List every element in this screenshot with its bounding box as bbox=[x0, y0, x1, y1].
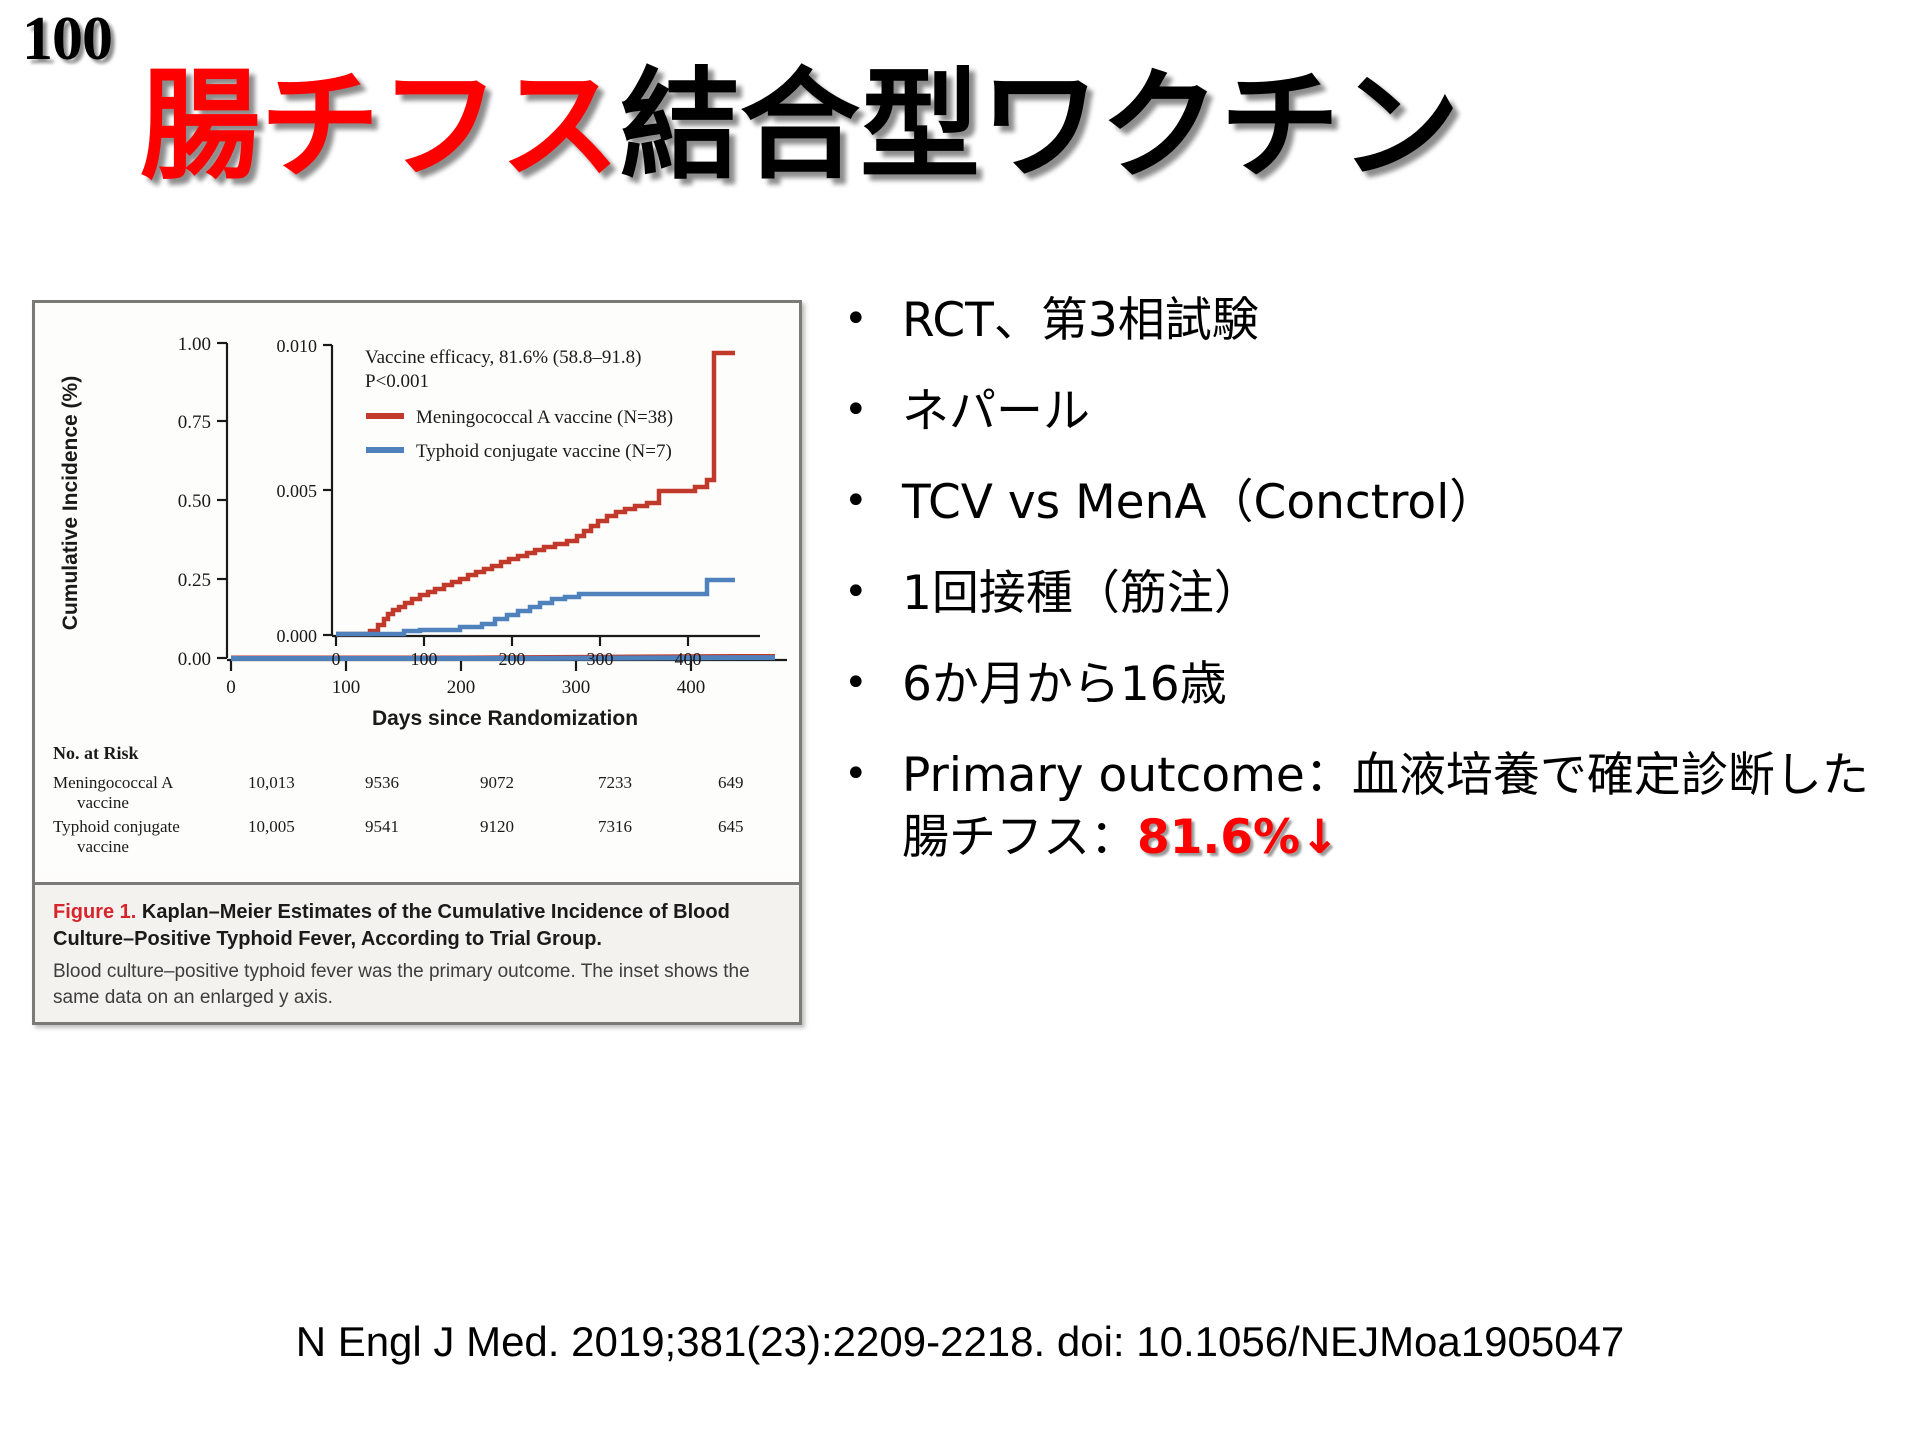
svg-text:300: 300 bbox=[587, 649, 614, 669]
svg-text:0: 0 bbox=[332, 649, 341, 669]
svg-text:0.25: 0.25 bbox=[178, 570, 211, 591]
risk-value: 9536 bbox=[365, 773, 399, 793]
pvalue-annotation: P<0.001 bbox=[365, 371, 429, 392]
svg-text:200: 200 bbox=[447, 677, 476, 698]
svg-text:400: 400 bbox=[677, 677, 706, 698]
risk-value: 10,013 bbox=[248, 773, 295, 793]
bullet-marker-icon: • bbox=[836, 745, 902, 803]
svg-text:0.00: 0.00 bbox=[178, 649, 211, 670]
risk-value: 9120 bbox=[480, 817, 514, 837]
title-black-part: 結合型ワクチン bbox=[620, 57, 1460, 196]
efficacy-highlight: 81.6%↓ bbox=[1137, 810, 1339, 865]
list-item-label: Primary outcome：血液培養で確定診断した腸チフス：81.6%↓ bbox=[902, 745, 1896, 867]
citation-text: N Engl J Med. 2019;381(23):2209-2218. do… bbox=[0, 1318, 1920, 1366]
list-item: • ネパール bbox=[836, 381, 1896, 442]
risk-row-label-line1: Typhoid conjugate bbox=[53, 817, 180, 836]
svg-text:300: 300 bbox=[562, 677, 591, 698]
risk-value: 645 bbox=[718, 817, 744, 837]
risk-row-label-line1: Meningococcal A bbox=[53, 773, 173, 792]
risk-value: 9541 bbox=[365, 817, 399, 837]
bullet-list: • RCT、第3相試験 • ネパール • TCV vs MenA（Conctro… bbox=[836, 290, 1896, 868]
svg-text:Cumulative Incidence (%): Cumulative Incidence (%) bbox=[59, 376, 82, 630]
list-item: • RCT、第3相試験 bbox=[836, 290, 1896, 351]
risk-row-label-line2: vaccine bbox=[53, 837, 223, 857]
risk-row-label-line2: vaccine bbox=[53, 793, 223, 813]
vaccine-efficacy-annotation: Vaccine efficacy, 81.6% (58.8–91.8) bbox=[365, 347, 641, 368]
list-item: • 1回接種（筋注） bbox=[836, 563, 1896, 624]
figure-label: Figure 1. bbox=[53, 901, 136, 923]
list-item: • TCV vs MenA（Conctrol） bbox=[836, 472, 1896, 533]
title-red-part: 腸チフス bbox=[140, 57, 620, 196]
svg-text:400: 400 bbox=[675, 649, 702, 669]
slide-number: 100 bbox=[22, 8, 112, 70]
svg-text:0: 0 bbox=[226, 677, 236, 698]
list-item-label: 1回接種（筋注） bbox=[902, 563, 1896, 624]
risk-value: 649 bbox=[718, 773, 744, 793]
list-item: • 6か月から16歳 bbox=[836, 654, 1896, 715]
bullet-marker-icon: • bbox=[836, 563, 902, 621]
primary-outcome-text: Primary outcome：血液培養で確定診断した腸チフス： bbox=[902, 748, 1869, 864]
bullet-marker-icon: • bbox=[836, 290, 902, 348]
bullet-marker-icon: • bbox=[836, 654, 902, 712]
svg-text:0.000: 0.000 bbox=[277, 626, 318, 646]
risk-row-label: Typhoid conjugate vaccine bbox=[53, 817, 223, 857]
svg-text:0.75: 0.75 bbox=[178, 412, 211, 433]
bullet-marker-icon: • bbox=[836, 381, 902, 439]
figure-panel: 1.00 0.75 0.50 0.25 0.00 Cumulative Inci… bbox=[32, 300, 802, 1025]
svg-text:0.50: 0.50 bbox=[178, 491, 211, 512]
list-item-label: TCV vs MenA（Conctrol） bbox=[902, 472, 1896, 533]
svg-text:100: 100 bbox=[411, 649, 438, 669]
bullet-marker-icon: • bbox=[836, 472, 902, 530]
risk-value: 7233 bbox=[598, 773, 632, 793]
figure-caption: Figure 1. Kaplan–Meier Estimates of the … bbox=[35, 882, 799, 1022]
figure-caption-body: Blood culture–positive typhoid fever was… bbox=[53, 959, 781, 1010]
risk-row-label: Meningococcal A vaccine bbox=[53, 773, 223, 813]
svg-text:1.00: 1.00 bbox=[178, 334, 211, 355]
risk-value: 7316 bbox=[598, 817, 632, 837]
list-item: • Primary outcome：血液培養で確定診断した腸チフス：81.6%↓ bbox=[836, 745, 1896, 867]
list-item-label: 6か月から16歳 bbox=[902, 654, 1896, 715]
svg-text:0.005: 0.005 bbox=[277, 481, 318, 501]
legend-label-tcv: Typhoid conjugate vaccine (N=7) bbox=[416, 441, 672, 462]
svg-text:100: 100 bbox=[332, 677, 361, 698]
page-title: 腸チフス結合型ワクチン bbox=[140, 62, 1460, 192]
list-item-label: RCT、第3相試験 bbox=[902, 290, 1896, 351]
figure-caption-heading: Figure 1. Kaplan–Meier Estimates of the … bbox=[53, 899, 781, 952]
risk-value: 9072 bbox=[480, 773, 514, 793]
svg-text:200: 200 bbox=[499, 649, 526, 669]
legend-label-menA: Meningococcal A vaccine (N=38) bbox=[416, 407, 673, 428]
no-at-risk-title: No. at Risk bbox=[53, 743, 139, 764]
figure-caption-title: Kaplan–Meier Estimates of the Cumulative… bbox=[53, 901, 730, 949]
list-item-label: ネパール bbox=[902, 381, 1896, 442]
svg-text:Days since Randomization: Days since Randomization bbox=[372, 707, 638, 730]
risk-value: 10,005 bbox=[248, 817, 295, 837]
svg-text:0.010: 0.010 bbox=[277, 336, 318, 356]
